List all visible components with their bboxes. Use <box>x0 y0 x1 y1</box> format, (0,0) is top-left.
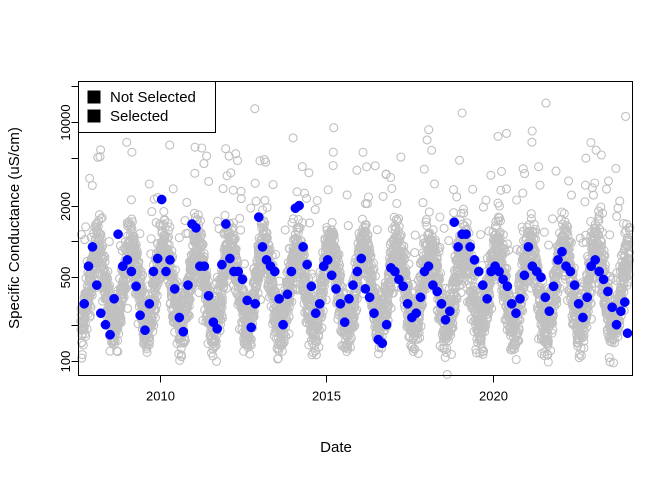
scatter-plot: 100500200010000 201020152020 Date Specif… <box>0 0 672 480</box>
chart-container: 100500200010000 201020152020 Date Specif… <box>0 0 672 480</box>
